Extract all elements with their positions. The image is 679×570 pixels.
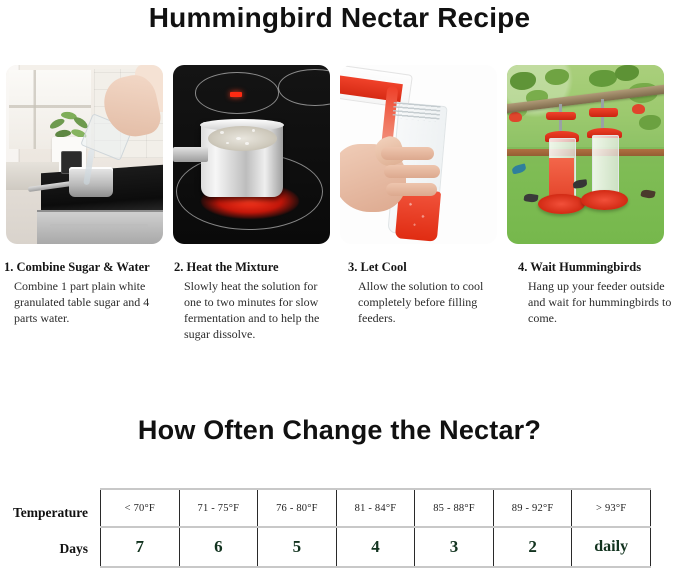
saucepan-handle xyxy=(173,147,208,161)
feeder-bottle xyxy=(592,135,619,198)
days-cell: 6 xyxy=(179,527,258,567)
photo-filling-feeder-bottle xyxy=(340,65,497,244)
days-cell: daily xyxy=(572,527,651,567)
recipe-step-3: 3. Let Cool Allow the solution to cool c… xyxy=(344,260,514,342)
hummingbird-icon xyxy=(511,164,527,175)
temperature-cell: 71 - 75°F xyxy=(179,489,258,527)
photo-pouring-sugar-water-into-saucepan xyxy=(6,65,163,244)
page-title: Hummingbird Nectar Recipe xyxy=(0,2,679,34)
photo-strip xyxy=(6,65,673,244)
step-2-body: Slowly heat the solution for one to two … xyxy=(174,278,336,342)
burner-ring xyxy=(278,69,330,107)
burner-indicator-light xyxy=(230,92,243,97)
section-title: How Often Change the Nectar? xyxy=(0,415,679,446)
hummingbird-icon xyxy=(640,189,655,200)
temperature-cell: 76 - 80°F xyxy=(258,489,337,527)
flower-icon xyxy=(632,104,645,114)
oven-front xyxy=(37,210,163,244)
row-label-temperature: Temperature xyxy=(0,505,88,521)
boiling-liquid xyxy=(208,126,277,151)
recipe-step-1: 1. Combine Sugar & Water Combine 1 part … xyxy=(4,260,174,342)
recipe-step-2: 2. Heat the Mixture Slowly heat the solu… xyxy=(174,260,344,342)
temperature-cell: 89 - 92°F xyxy=(493,489,572,527)
days-cell: 7 xyxy=(101,527,180,567)
temperature-cell: < 70°F xyxy=(101,489,180,527)
nectar-change-schedule: Temperature Days < 70°F 71 - 75°F 76 - 8… xyxy=(0,488,679,564)
flower-icon xyxy=(509,112,522,122)
feeder-hanger-cap xyxy=(589,108,619,117)
table-row-days: 7 6 5 4 3 2 daily xyxy=(101,527,651,567)
row-label-days: Days xyxy=(0,541,88,557)
hummingbird-icon xyxy=(573,179,588,188)
fence xyxy=(507,149,664,156)
step-3-body: Allow the solution to cool completely be… xyxy=(348,278,506,326)
recipe-steps: 1. Combine Sugar & Water Combine 1 part … xyxy=(4,260,675,342)
table-row-labels: Temperature Days xyxy=(0,488,96,564)
photo-feeders-hanging-outside xyxy=(507,65,664,244)
temperature-cell: > 93°F xyxy=(572,489,651,527)
days-cell: 2 xyxy=(493,527,572,567)
table-row-temperature: < 70°F 71 - 75°F 76 - 80°F 81 - 84°F 85 … xyxy=(101,489,651,527)
hummingbird-icon xyxy=(524,193,539,203)
feeder-base xyxy=(581,190,628,210)
schedule-table: < 70°F 71 - 75°F 76 - 80°F 81 - 84°F 85 … xyxy=(100,488,651,568)
step-3-heading: 3. Let Cool xyxy=(348,260,506,275)
step-2-heading: 2. Heat the Mixture xyxy=(174,260,336,275)
temperature-cell: 85 - 88°F xyxy=(415,489,494,527)
step-1-body: Combine 1 part plain white granulated ta… xyxy=(4,278,166,326)
days-cell: 4 xyxy=(336,527,415,567)
temperature-cell: 81 - 84°F xyxy=(336,489,415,527)
photo-boiling-solution-on-burner xyxy=(173,65,330,244)
step-4-body: Hang up your feeder outside and wait for… xyxy=(518,278,676,326)
feeder-base xyxy=(538,194,585,214)
feeder-hanger-cap xyxy=(546,112,576,121)
step-4-heading: 4. Wait Hummingbirds xyxy=(518,260,676,275)
days-cell: 5 xyxy=(258,527,337,567)
days-cell: 3 xyxy=(415,527,494,567)
step-1-heading: 1. Combine Sugar & Water xyxy=(4,260,166,275)
recipe-step-4: 4. Wait Hummingbirds Hang up your feeder… xyxy=(514,260,679,342)
